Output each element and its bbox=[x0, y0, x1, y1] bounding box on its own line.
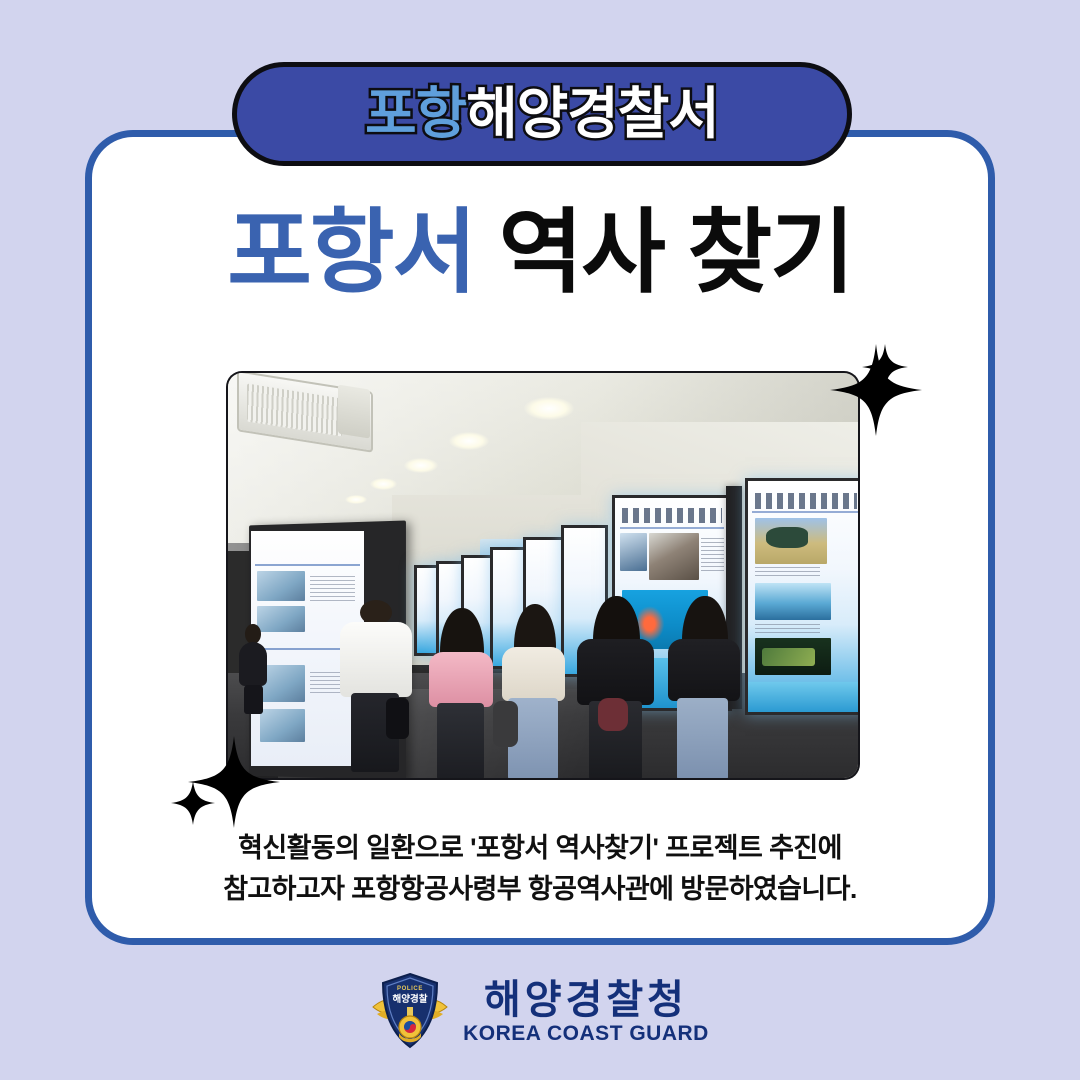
page-title: 포항서 역사 찾기 bbox=[0, 196, 1080, 311]
page-title-black: 역사 찾기 bbox=[499, 202, 853, 304]
header-badge-highlight: 포항 bbox=[365, 82, 466, 145]
photo-kiosk-rule bbox=[255, 564, 359, 566]
photo-person bbox=[571, 596, 659, 778]
page-title-blue: 포항서 bbox=[227, 202, 475, 304]
svg-text:해양경찰: 해양경찰 bbox=[393, 993, 428, 1005]
photo-person-bag bbox=[598, 698, 628, 731]
photo-person-torso bbox=[340, 622, 412, 697]
photo-person-bag bbox=[386, 698, 409, 739]
agency-name-ko: 해양경찰청 bbox=[484, 979, 688, 1021]
photo-person bbox=[423, 608, 499, 778]
photo-panel-rule bbox=[620, 527, 724, 529]
sparkle-bottom-left-small bbox=[167, 777, 219, 829]
photo-panel-rule bbox=[752, 511, 858, 513]
exhibition-photo bbox=[228, 373, 858, 778]
photo-panel-heading bbox=[755, 493, 858, 509]
header-badge: 포항해양경찰서 bbox=[232, 62, 852, 166]
sparkle-top-right-small bbox=[858, 340, 912, 394]
coast-guard-emblem-icon: POLICE 해양경찰 bbox=[371, 971, 449, 1053]
photo-panel-text bbox=[701, 538, 724, 572]
photo-panel-heading bbox=[622, 508, 722, 523]
footer: POLICE 해양경찰 해양경찰청 KOREA COAST GUARD bbox=[0, 966, 1080, 1058]
photo-person-torso bbox=[502, 647, 565, 701]
photo-wall-panel-large bbox=[745, 478, 858, 715]
photo-kiosk-image bbox=[257, 571, 305, 602]
header-badge-rest: 해양경찰서 bbox=[466, 82, 719, 145]
header-badge-label: 포항해양경찰서 bbox=[365, 86, 719, 142]
footer-agency-text: 해양경찰청 KOREA COAST GUARD bbox=[463, 979, 709, 1045]
photo-ac-side bbox=[338, 385, 370, 439]
photo-ceiling-light bbox=[404, 458, 438, 473]
photo-person-distant bbox=[237, 624, 269, 713]
agency-name-en: KOREA COAST GUARD bbox=[463, 1022, 709, 1045]
photo-person bbox=[496, 604, 572, 778]
caption-line-1: 혁신활동의 일환으로 '포항서 역사찾기' 프로젝트 추진에 bbox=[0, 828, 1080, 869]
photo-person-legs bbox=[677, 698, 728, 778]
photo-panel-image bbox=[620, 533, 647, 571]
photo-person-legs bbox=[437, 703, 484, 778]
photo-person-torso bbox=[577, 639, 655, 705]
photo-person-torso bbox=[239, 642, 267, 687]
photo-person-torso bbox=[668, 639, 740, 701]
photo-panel-lower-sea bbox=[748, 682, 858, 712]
svg-text:POLICE: POLICE bbox=[397, 986, 423, 992]
photo-panel-image bbox=[755, 583, 832, 620]
caption-line-2: 참고하고자 포항항공사령부 항공역사관에 방문하였습니다. bbox=[0, 869, 1080, 910]
photo-person-torso bbox=[429, 652, 492, 706]
photo-person-legs bbox=[244, 685, 263, 714]
photo-panel-image bbox=[649, 533, 699, 579]
photo-panel-text bbox=[755, 624, 820, 633]
caption: 혁신활동의 일환으로 '포항서 역사찾기' 프로젝트 추진에 참고하고자 포항항… bbox=[0, 828, 1080, 910]
photo-person bbox=[663, 596, 745, 778]
photo-container bbox=[228, 373, 858, 778]
photo-panel-text bbox=[755, 567, 820, 579]
photo-ceiling-light bbox=[449, 432, 489, 450]
photo-ceiling-light bbox=[524, 397, 574, 419]
photo-person-bag bbox=[493, 701, 519, 746]
photo-person-head bbox=[245, 624, 261, 644]
photo-panel-helicopter-body bbox=[766, 527, 808, 548]
photo-person bbox=[335, 600, 417, 770]
photo-panel-image-accent bbox=[762, 648, 816, 666]
